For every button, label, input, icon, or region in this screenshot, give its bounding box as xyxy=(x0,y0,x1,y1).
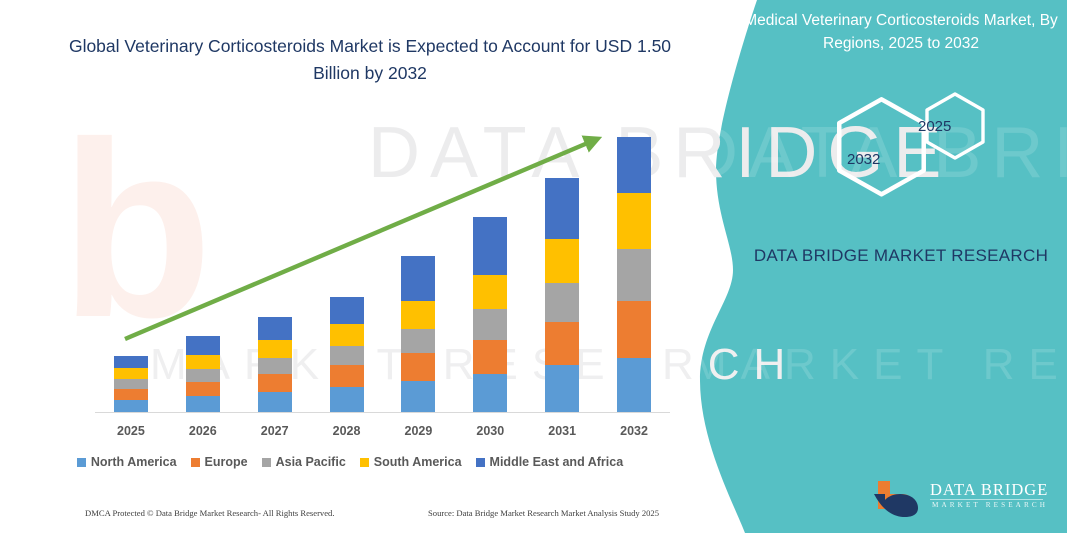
chart-legend: North AmericaEuropeAsia PacificSouth Ame… xyxy=(0,455,700,469)
legend-swatch-icon xyxy=(360,458,369,467)
bar-segment xyxy=(258,374,292,392)
x-axis-line xyxy=(95,412,670,413)
bar-segment xyxy=(186,369,220,382)
logo-title: DATA BRIDGE xyxy=(930,480,1048,500)
panel-content: Medical Veterinary Corticosteroids Marke… xyxy=(735,0,1067,533)
legend-item[interactable]: Middle East and Africa xyxy=(476,455,624,469)
bar-column xyxy=(545,178,579,413)
bar-segment xyxy=(186,336,220,355)
infographic-page: b DATA BRIDGE MARKET RESEARCH DATA BRIDG… xyxy=(0,0,1067,533)
bar-segment xyxy=(545,239,579,283)
bar-segment xyxy=(330,324,364,346)
x-axis-label: 2031 xyxy=(532,424,592,438)
x-axis-label: 2029 xyxy=(388,424,448,438)
bar-column xyxy=(186,336,220,413)
bar-segment xyxy=(258,392,292,413)
logo-subtitle: MARKET RESEARCH xyxy=(932,501,1048,509)
hexagon-shapes xyxy=(805,88,1055,218)
bar-segment xyxy=(545,322,579,365)
hexagon-label-2032: 2032 xyxy=(847,151,880,168)
legend-swatch-icon xyxy=(191,458,200,467)
bar-segment xyxy=(473,217,507,275)
panel-title: Medical Veterinary Corticosteroids Marke… xyxy=(740,9,1062,55)
legend-swatch-icon xyxy=(262,458,271,467)
bar-segment xyxy=(473,275,507,309)
bar-segment xyxy=(258,358,292,374)
bar-segment xyxy=(186,382,220,396)
hexagon-label-2025: 2025 xyxy=(918,118,951,135)
bar-segment xyxy=(401,256,435,301)
bar-segment xyxy=(258,340,292,358)
bar-segment xyxy=(114,356,148,368)
bar-segment xyxy=(330,297,364,324)
bar-segment xyxy=(473,374,507,413)
x-axis-labels: 20252026202720282029203020312032 xyxy=(95,424,670,444)
bar-column xyxy=(473,217,507,413)
bar-segment xyxy=(330,346,364,366)
bar-segment xyxy=(545,283,579,322)
bar-segment xyxy=(186,355,220,369)
legend-label: North America xyxy=(91,455,177,469)
x-axis-label: 2030 xyxy=(460,424,520,438)
legend-item[interactable]: Asia Pacific xyxy=(262,455,346,469)
bar-segment xyxy=(617,137,651,193)
bar-segment xyxy=(617,301,651,358)
bar-segment xyxy=(617,249,651,301)
bar-segment xyxy=(114,368,148,379)
legend-label: Europe xyxy=(205,455,248,469)
bar-segment xyxy=(330,387,364,413)
bar-column xyxy=(114,356,148,413)
panel-brand-text: DATA BRIDGE MARKET RESEARCH xyxy=(751,242,1051,269)
bar-segment xyxy=(401,329,435,354)
footer-source-text: Source: Data Bridge Market Research Mark… xyxy=(428,508,659,518)
bar-column xyxy=(258,317,292,413)
legend-label: Middle East and Africa xyxy=(490,455,624,469)
legend-swatch-icon xyxy=(476,458,485,467)
bar-segment xyxy=(401,353,435,381)
bar-segment xyxy=(545,178,579,239)
x-axis-label: 2032 xyxy=(604,424,664,438)
legend-item[interactable]: South America xyxy=(360,455,462,469)
bar-segment xyxy=(401,301,435,329)
legend-label: South America xyxy=(374,455,462,469)
legend-swatch-icon xyxy=(77,458,86,467)
x-axis-label: 2025 xyxy=(101,424,161,438)
x-axis-label: 2027 xyxy=(245,424,305,438)
bar-segment xyxy=(401,381,435,413)
hexagon-group: 2032 2025 xyxy=(805,88,1055,218)
legend-label: Asia Pacific xyxy=(276,455,346,469)
legend-item[interactable]: Europe xyxy=(191,455,248,469)
bar-segment xyxy=(114,389,148,400)
footer: DMCA Protected © Data Bridge Market Rese… xyxy=(0,505,700,525)
x-axis-label: 2028 xyxy=(317,424,377,438)
bar-segment xyxy=(186,396,220,413)
bar-column xyxy=(401,256,435,413)
logo-mark-icon xyxy=(872,478,928,518)
chart-pane: Global Veterinary Corticosteroids Market… xyxy=(0,0,700,533)
footer-dmca-text: DMCA Protected © Data Bridge Market Rese… xyxy=(85,508,335,518)
hexagon-2032 xyxy=(839,99,923,194)
bar-segment xyxy=(545,365,579,413)
bar-column xyxy=(617,137,651,413)
bar-segment xyxy=(258,317,292,340)
bar-segment xyxy=(114,379,148,389)
bar-segment xyxy=(617,193,651,249)
bar-segment xyxy=(617,358,651,413)
bar-column xyxy=(330,297,364,413)
legend-item[interactable]: North America xyxy=(77,455,177,469)
bar-segment xyxy=(330,365,364,387)
data-bridge-logo: DATA BRIDGE MARKET RESEARCH xyxy=(872,478,1047,522)
bar-segment xyxy=(473,309,507,340)
bar-segment xyxy=(473,340,507,374)
logo-divider xyxy=(930,499,1043,500)
stacked-bar-plot xyxy=(95,120,670,413)
chart-title: Global Veterinary Corticosteroids Market… xyxy=(60,33,680,87)
x-axis-label: 2026 xyxy=(173,424,233,438)
